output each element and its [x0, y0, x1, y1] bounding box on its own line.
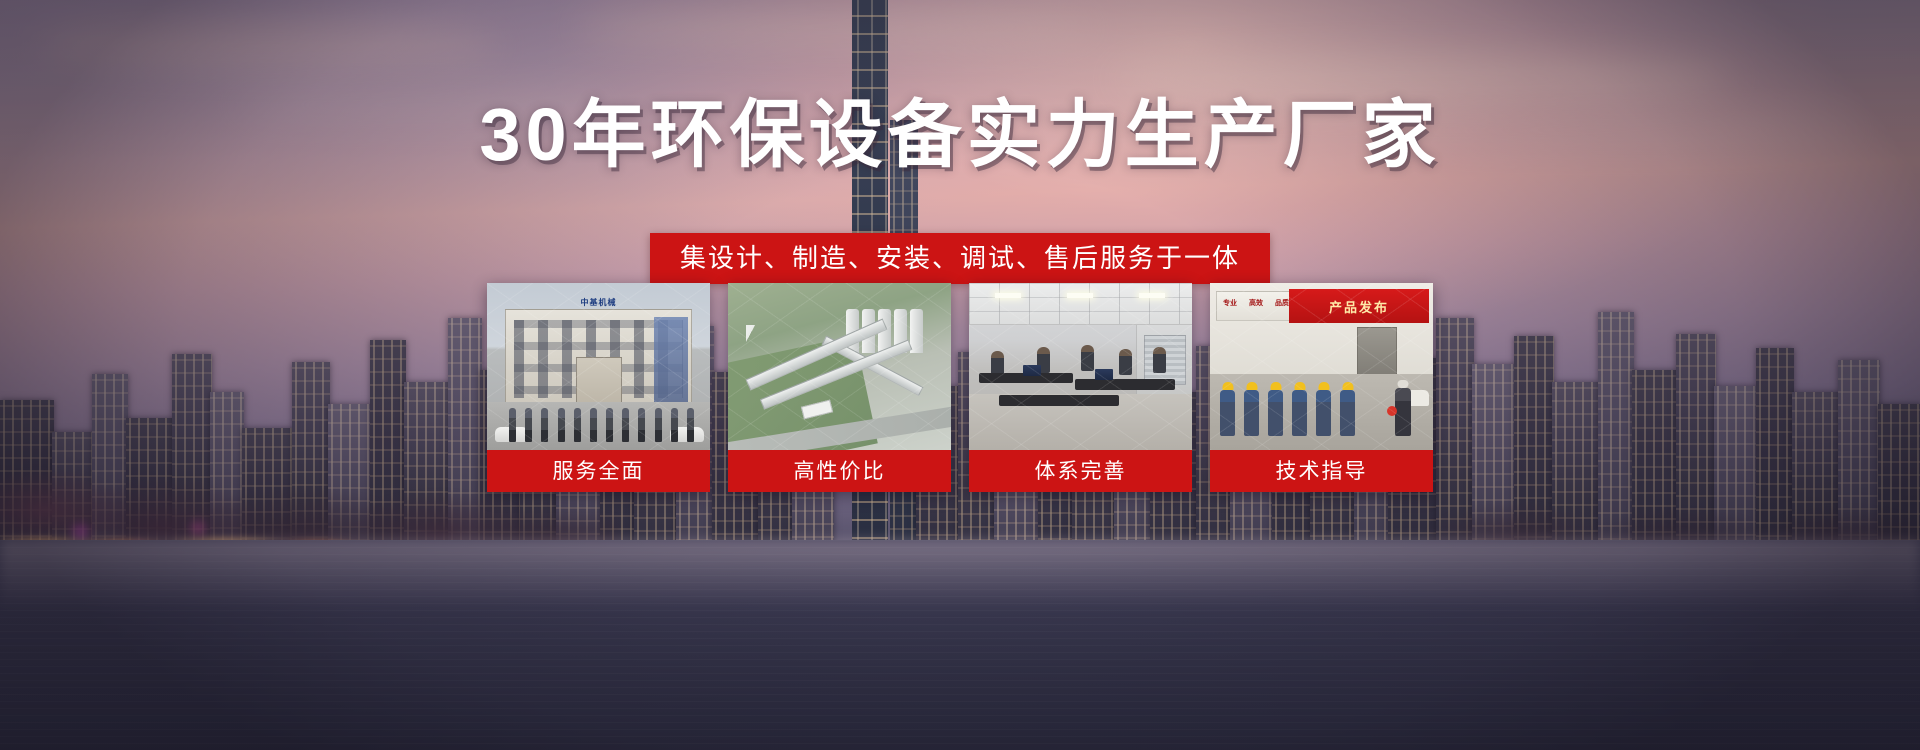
card-label: 技术指导 — [1210, 450, 1433, 492]
cloud-streak — [38, 23, 498, 69]
water-reflection-glow — [0, 540, 1920, 610]
card-photo-industrial-plant — [728, 283, 951, 450]
banner-subtitle-wrap: 集设计、制造、安装、调试、售后服务于一体 — [0, 233, 1920, 284]
hero-banner: 30年环保设备实力生产厂家 集设计、制造、安装、调试、售后服务于一体 中基机械 — [0, 0, 1920, 750]
cloud-streak — [576, 8, 1096, 46]
card-photo-company-building: 中基机械 — [487, 283, 710, 450]
feature-card[interactable]: 高性价比 — [728, 283, 951, 492]
river-water — [0, 540, 1920, 750]
factory-red-banner: 产品发布 — [1289, 289, 1429, 323]
feature-card[interactable]: 专业高效品质 产品发布 技术指导 — [1210, 283, 1433, 492]
building-sign-text: 中基机械 — [581, 297, 617, 308]
card-label: 高性价比 — [728, 450, 951, 492]
banner-subtitle: 集设计、制造、安装、调试、售后服务于一体 — [650, 233, 1270, 284]
feature-card-list: 中基机械 服务全面 — [0, 283, 1920, 492]
card-label: 体系完善 — [969, 450, 1192, 492]
card-photo-factory-workers: 专业高效品质 产品发布 — [1210, 283, 1433, 450]
feature-card[interactable]: 体系完善 — [969, 283, 1192, 492]
card-photo-office-interior — [969, 283, 1192, 450]
card-label: 服务全面 — [487, 450, 710, 492]
feature-card[interactable]: 中基机械 服务全面 — [487, 283, 710, 492]
banner-headline: 30年环保设备实力生产厂家 — [0, 98, 1920, 172]
